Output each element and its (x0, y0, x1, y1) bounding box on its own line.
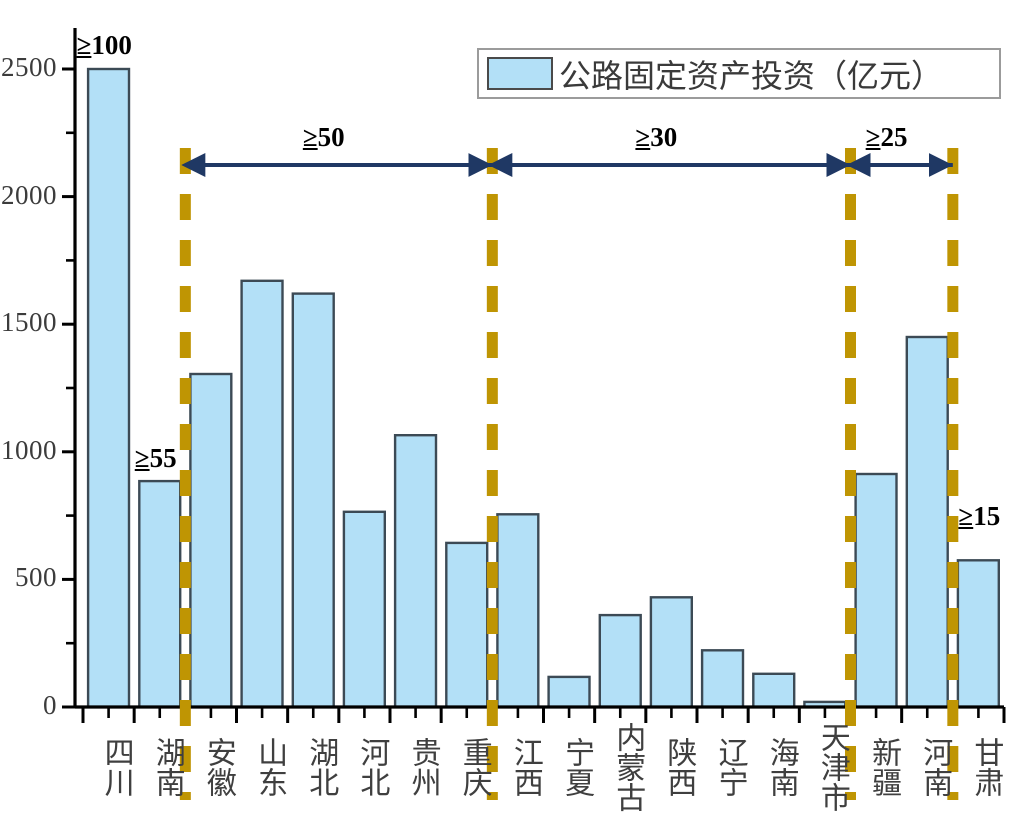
annotation-value: 30 (650, 122, 677, 152)
x-axis-tick-label: 重庆 (444, 718, 490, 816)
annotation-value: 100 (91, 30, 132, 60)
bar (600, 615, 641, 707)
x-axis-tick-label: 内蒙古 (597, 718, 643, 816)
x-axis-tick-label: 湖南 (137, 718, 183, 816)
x-axis-tick-label: 安徽 (188, 718, 234, 816)
bar (753, 674, 794, 707)
bar (344, 512, 385, 707)
annotation-value: 15 (973, 501, 1000, 531)
x-axis-tick-label: 辽宁 (700, 718, 746, 816)
bar (907, 337, 948, 707)
bar (139, 481, 180, 707)
y-axis-tick-label: 2000 (1, 180, 57, 211)
x-axis-tick-label: 湖北 (290, 718, 336, 816)
x-axis-tick-label: 江西 (495, 718, 541, 816)
annotation-value: 50 (318, 122, 345, 152)
x-axis-tick-label: 陕西 (648, 718, 694, 816)
greater-equal-icon: ≥ (866, 122, 881, 152)
bar (856, 474, 897, 707)
x-axis-tick-label: 天津市 (802, 718, 848, 816)
annotation-ge-55: ≥55 (135, 443, 177, 474)
greater-equal-icon: ≥ (635, 122, 650, 152)
greater-equal-icon: ≥ (135, 443, 150, 473)
annotation-ge-15: ≥15 (958, 501, 1000, 532)
annotation-ge-25: ≥25 (866, 122, 908, 153)
x-axis-tick-label: 海南 (751, 718, 797, 816)
annotation-ge-30: ≥30 (635, 122, 677, 153)
x-axis-tick-label: 四川 (86, 718, 132, 816)
bar (190, 374, 231, 707)
annotation-ge-100: ≥100 (77, 30, 132, 61)
y-axis-tick-label: 2500 (1, 52, 57, 83)
bar (446, 543, 487, 707)
x-axis-tick-label: 河南 (904, 718, 950, 816)
legend-label: 公路固定资产投资（亿元） (559, 51, 943, 97)
greater-equal-icon: ≥ (77, 30, 92, 60)
y-axis-tick-label: 500 (15, 562, 57, 593)
bar (395, 435, 436, 707)
bar (702, 650, 743, 707)
annotation-value: 25 (880, 122, 907, 152)
x-axis-tick-label: 贵州 (393, 718, 439, 816)
bar (549, 677, 590, 707)
bar (242, 281, 283, 707)
y-axis-tick-label: 1000 (1, 435, 57, 466)
y-axis-tick-label: 0 (43, 690, 57, 721)
chart-plot-area (0, 0, 1011, 816)
x-axis-tick-label: 山东 (239, 718, 285, 816)
legend-swatch-icon (487, 57, 553, 90)
greater-equal-icon: ≥ (958, 501, 973, 531)
annotation-value: 55 (150, 443, 177, 473)
bar (651, 597, 692, 707)
y-axis-tick-label: 1500 (1, 307, 57, 338)
bar (293, 294, 334, 707)
legend: 公路固定资产投资（亿元） (477, 48, 1001, 99)
x-axis-tick-label: 宁夏 (546, 718, 592, 816)
bar-chart: 05001000150020002500 四川湖南安徽山东湖北河北贵州重庆江西宁… (0, 0, 1011, 816)
bar (88, 69, 129, 707)
greater-equal-icon: ≥ (303, 122, 318, 152)
bar (958, 560, 999, 707)
bar (497, 514, 538, 707)
x-axis-tick-label: 河北 (341, 718, 387, 816)
annotation-ge-50: ≥50 (303, 122, 345, 153)
x-axis-tick-label: 新疆 (853, 718, 899, 816)
x-axis-tick-label: 甘肃 (955, 718, 1001, 816)
